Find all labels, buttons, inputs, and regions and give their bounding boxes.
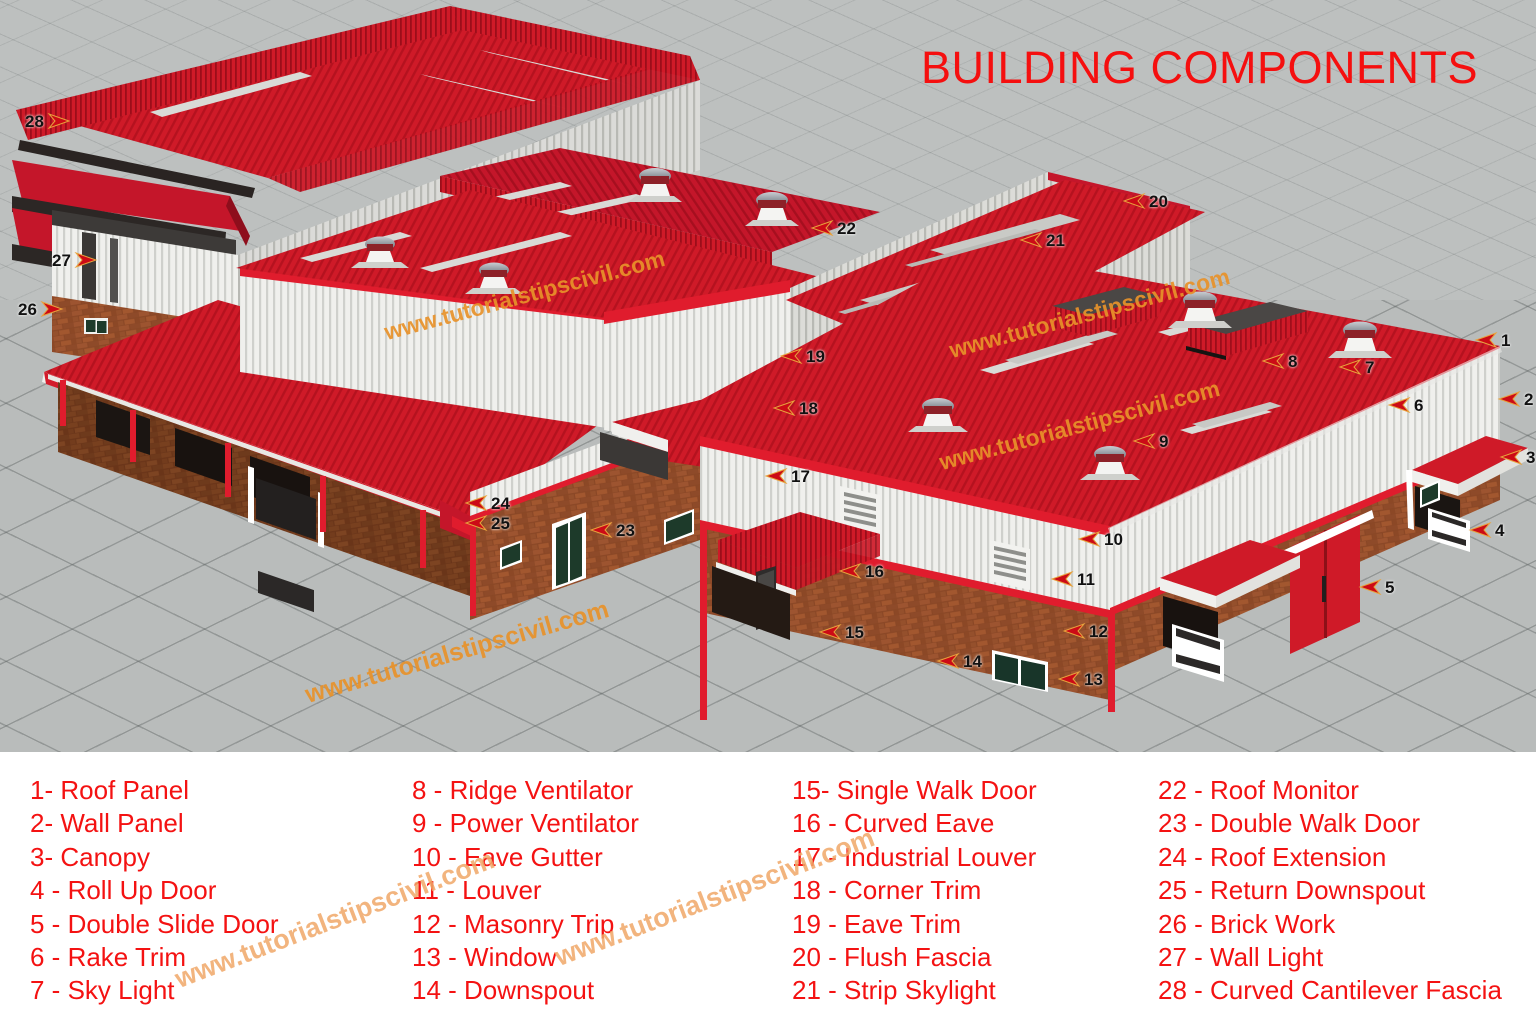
components-legend: 1- Roof Panel2- Wall Panel3- Canopy4 - R…: [0, 752, 1536, 1023]
legend-column-1: 1- Roof Panel2- Wall Panel3- Canopy4 - R…: [0, 774, 402, 1023]
callout-arrow-icon: [40, 300, 66, 318]
legend-item: 4 - Roll Up Door: [30, 874, 402, 907]
callout-number: 18: [799, 400, 818, 417]
callout-arrow-icon: [1495, 390, 1521, 408]
callout-number: 22: [837, 220, 856, 237]
page-root: BUILDING COMPONENTS www.tutorialstipsciv…: [0, 0, 1536, 1023]
callout-arrow-icon: [462, 494, 488, 512]
callout-marker-19[interactable]: 19: [777, 347, 825, 365]
legend-column-2: 8 - Ridge Ventilator9 - Power Ventilator…: [402, 774, 780, 1023]
callout-arrow-icon: [1060, 622, 1086, 640]
callout-arrow-icon: [47, 112, 73, 130]
callout-marker-18[interactable]: 18: [770, 399, 818, 417]
legend-item: 12 - Masonry Trip: [412, 908, 780, 941]
callout-marker-16[interactable]: 16: [836, 562, 884, 580]
legend-item: 20 - Flush Fascia: [792, 941, 1158, 974]
callout-number: 8: [1288, 353, 1297, 370]
building-illustration: BUILDING COMPONENTS www.tutorialstipsciv…: [0, 0, 1536, 752]
legend-item: 13 - Window: [412, 941, 780, 974]
callout-number: 3: [1526, 449, 1535, 466]
callout-number: 27: [52, 252, 71, 269]
callout-marker-5[interactable]: 5: [1356, 578, 1394, 596]
callout-arrow-icon: [587, 521, 613, 539]
legend-item: 24 - Roof Extension: [1158, 841, 1536, 874]
callout-marker-28[interactable]: 28: [25, 112, 73, 130]
callout-arrow-icon: [808, 219, 834, 237]
legend-column-4: 22 - Roof Monitor23 - Double Walk Door24…: [1158, 774, 1536, 1023]
callout-number: 10: [1104, 531, 1123, 548]
callout-arrow-icon: [836, 562, 862, 580]
legend-item: 26 - Brick Work: [1158, 908, 1536, 941]
building-3d-render: [0, 0, 1536, 752]
legend-item: 6 - Rake Trim: [30, 941, 402, 974]
callout-arrow-icon: [1075, 530, 1101, 548]
callout-marker-25[interactable]: 25: [462, 514, 510, 532]
callout-marker-8[interactable]: 8: [1259, 352, 1297, 370]
callout-arrow-icon: [1336, 358, 1362, 376]
legend-item: 25 - Return Downspout: [1158, 874, 1536, 907]
callout-arrow-icon: [1356, 578, 1382, 596]
callout-number: 14: [963, 653, 982, 670]
legend-item: 9 - Power Ventilator: [412, 807, 780, 840]
callout-arrow-icon: [1130, 432, 1156, 450]
callout-marker-27[interactable]: 27: [52, 251, 100, 269]
callout-arrow-icon: [1466, 521, 1492, 539]
callout-number: 4: [1495, 522, 1504, 539]
callout-marker-15[interactable]: 15: [816, 623, 864, 641]
callout-marker-13[interactable]: 13: [1055, 670, 1103, 688]
legend-item: 10 - Eave Gutter: [412, 841, 780, 874]
callout-marker-4[interactable]: 4: [1466, 521, 1504, 539]
callout-arrow-icon: [1497, 448, 1523, 466]
callout-marker-21[interactable]: 21: [1017, 231, 1065, 249]
callout-number: 1: [1501, 332, 1510, 349]
legend-item: 7 - Sky Light: [30, 974, 402, 1007]
callout-arrow-icon: [1472, 331, 1498, 349]
callout-arrow-icon: [770, 399, 796, 417]
legend-item: 11 - Louver: [412, 874, 780, 907]
legend-item: 27 - Wall Light: [1158, 941, 1536, 974]
callout-arrow-icon: [1120, 192, 1146, 210]
callout-number: 24: [491, 495, 510, 512]
callout-number: 25: [491, 515, 510, 532]
legend-item: 22 - Roof Monitor: [1158, 774, 1536, 807]
legend-item: 16 - Curved Eave: [792, 807, 1158, 840]
callout-marker-10[interactable]: 10: [1075, 530, 1123, 548]
legend-item: 15- Single Walk Door: [792, 774, 1158, 807]
callout-marker-1[interactable]: 1: [1472, 331, 1510, 349]
downspout: [700, 524, 707, 720]
callout-number: 28: [25, 113, 44, 130]
legend-item: 23 - Double Walk Door: [1158, 807, 1536, 840]
callout-number: 5: [1385, 579, 1394, 596]
legend-item: 18 - Corner Trim: [792, 874, 1158, 907]
callout-number: 2: [1524, 391, 1533, 408]
callout-marker-23[interactable]: 23: [587, 521, 635, 539]
legend-item: 1- Roof Panel: [30, 774, 402, 807]
callout-arrow-icon: [1385, 396, 1411, 414]
callout-marker-3[interactable]: 3: [1497, 448, 1535, 466]
callout-number: 21: [1046, 232, 1065, 249]
legend-item: 19 - Eave Trim: [792, 908, 1158, 941]
callout-marker-12[interactable]: 12: [1060, 622, 1108, 640]
callout-marker-22[interactable]: 22: [808, 219, 856, 237]
callout-number: 7: [1365, 359, 1374, 376]
callout-arrow-icon: [762, 467, 788, 485]
callout-arrow-icon: [1055, 670, 1081, 688]
callout-arrow-icon: [1259, 352, 1285, 370]
callout-number: 6: [1414, 397, 1423, 414]
legend-column-3: 15- Single Walk Door16 - Curved Eave17 -…: [780, 774, 1158, 1023]
callout-arrow-icon: [1017, 231, 1043, 249]
callout-arrow-icon: [74, 251, 100, 269]
legend-item: 5 - Double Slide Door: [30, 908, 402, 941]
callout-marker-14[interactable]: 14: [934, 652, 982, 670]
legend-item: 8 - Ridge Ventilator: [412, 774, 780, 807]
double-walk-door: [552, 512, 586, 590]
callout-number: 26: [18, 301, 37, 318]
legend-item: 14 - Downspout: [412, 974, 780, 1007]
downspout: [1108, 612, 1115, 712]
callout-arrow-icon: [777, 347, 803, 365]
callout-number: 16: [865, 563, 884, 580]
legend-item: 2- Wall Panel: [30, 807, 402, 840]
callout-number: 11: [1077, 571, 1095, 588]
callout-number: 20: [1149, 193, 1168, 210]
callout-number: 17: [791, 468, 810, 485]
page-title: BUILDING COMPONENTS: [921, 42, 1478, 94]
callout-marker-24[interactable]: 24: [462, 494, 510, 512]
legend-item: 3- Canopy: [30, 841, 402, 874]
callout-marker-11[interactable]: 11: [1048, 570, 1095, 588]
callout-marker-20[interactable]: 20: [1120, 192, 1168, 210]
callout-number: 13: [1084, 671, 1103, 688]
callout-marker-2[interactable]: 2: [1495, 390, 1533, 408]
callout-marker-7[interactable]: 7: [1336, 358, 1374, 376]
legend-item: 21 - Strip Skylight: [792, 974, 1158, 1007]
legend-item: 28 - Curved Cantilever Fascia: [1158, 974, 1536, 1007]
legend-item: 17 - Industrial Louver: [792, 841, 1158, 874]
callout-number: 15: [845, 624, 864, 641]
callout-marker-6[interactable]: 6: [1385, 396, 1423, 414]
callout-number: 23: [616, 522, 635, 539]
callout-arrow-icon: [462, 514, 488, 532]
callout-arrow-icon: [934, 652, 960, 670]
callout-arrow-icon: [1048, 570, 1074, 588]
callout-marker-26[interactable]: 26: [18, 300, 66, 318]
callout-marker-17[interactable]: 17: [762, 467, 810, 485]
callout-marker-9[interactable]: 9: [1130, 432, 1168, 450]
callout-arrow-icon: [816, 623, 842, 641]
callout-number: 12: [1089, 623, 1108, 640]
callout-number: 19: [806, 348, 825, 365]
callout-number: 9: [1159, 433, 1168, 450]
